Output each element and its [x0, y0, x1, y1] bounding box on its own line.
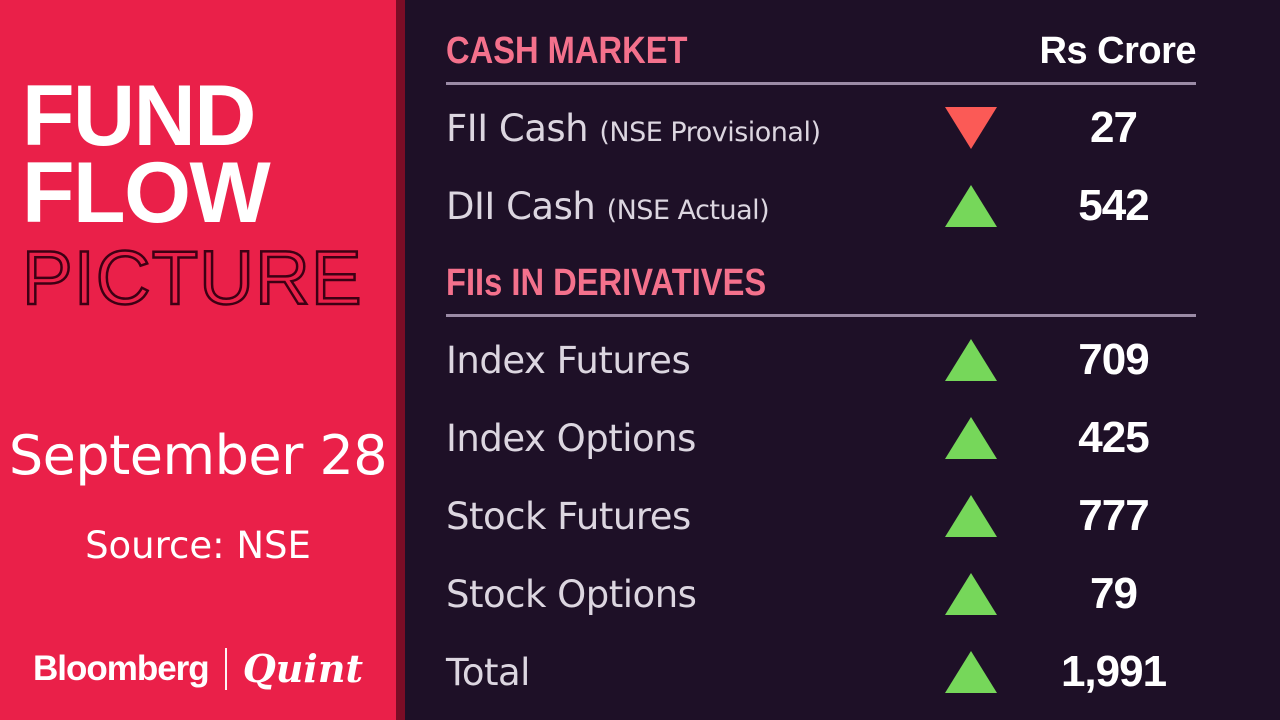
row-value: 542 [1031, 181, 1196, 231]
section-cash-market: CASH MARKET Rs Crore FII Cash (NSE Provi… [446, 30, 1196, 245]
row-label: DII Cash (NSE Actual) [446, 185, 911, 228]
infographic-canvas: FUND FLOW PICTURE September 28 Source: N… [0, 0, 1280, 720]
row-label: Index Futures [446, 339, 911, 382]
row-label-main: Index Futures [446, 339, 690, 382]
triangle-down-icon [945, 107, 997, 149]
row-label-main: Index Options [446, 417, 696, 460]
row-value: 425 [1031, 413, 1196, 463]
row-label-qualifier: (NSE Actual) [607, 195, 770, 226]
direction-marker [911, 651, 1031, 693]
logo-divider [225, 648, 227, 690]
publisher-logo: Bloomberg Quint [0, 646, 396, 691]
direction-marker [911, 107, 1031, 149]
table-row: Index Options 425 [446, 399, 1196, 477]
row-label: Total [446, 651, 911, 694]
direction-marker [911, 339, 1031, 381]
triangle-up-icon [945, 573, 997, 615]
row-label-main: Stock Futures [446, 495, 691, 538]
row-label-main: DII Cash [446, 185, 595, 228]
table-row: Stock Futures 777 [446, 477, 1196, 555]
section-title: FIIs IN DERIVATIVES [446, 262, 766, 305]
row-label-main: Stock Options [446, 573, 696, 616]
triangle-up-icon [945, 417, 997, 459]
row-value: 709 [1031, 335, 1196, 385]
data-panel: CASH MARKET Rs Crore FII Cash (NSE Provi… [405, 0, 1280, 720]
row-value: 79 [1031, 569, 1196, 619]
triangle-up-icon [945, 185, 997, 227]
section-rows: FII Cash (NSE Provisional) 27 DII Cash (… [446, 89, 1196, 245]
direction-marker [911, 495, 1031, 537]
logo-quint-wordmark: Quint [243, 646, 363, 691]
panel-edge-accent [396, 0, 405, 720]
triangle-up-icon [945, 339, 997, 381]
row-label: FII Cash (NSE Provisional) [446, 107, 911, 150]
brand-lockup: FUND FLOW PICTURE [22, 78, 382, 319]
row-value: 27 [1031, 103, 1196, 153]
table-row: DII Cash (NSE Actual) 542 [446, 167, 1196, 245]
brand-title-line-1: FUND [22, 78, 382, 155]
section-rule [446, 82, 1196, 85]
row-label-qualifier: (NSE Provisional) [599, 117, 820, 148]
row-label: Stock Futures [446, 495, 911, 538]
logo-bloomberg-wordmark: Bloomberg [33, 649, 209, 689]
section-fiis-in-derivatives: FIIs IN DERIVATIVES Index Futures 709 I [446, 262, 1196, 711]
brand-panel: FUND FLOW PICTURE September 28 Source: N… [0, 0, 396, 720]
section-rule [446, 314, 1196, 317]
section-header: CASH MARKET Rs Crore [446, 30, 1196, 82]
row-label: Index Options [446, 417, 911, 460]
source-label: Source: NSE [0, 524, 396, 567]
date-label: September 28 [0, 424, 396, 487]
section-header: FIIs IN DERIVATIVES [446, 262, 1196, 314]
row-value: 777 [1031, 491, 1196, 541]
table-row-total: Total 1,991 [446, 633, 1196, 711]
direction-marker [911, 185, 1031, 227]
section-title: CASH MARKET [446, 30, 687, 73]
section-unit-label: Rs Crore [1040, 30, 1197, 73]
table-row: Index Futures 709 [446, 321, 1196, 399]
row-label-main: Total [446, 651, 530, 694]
brand-title-line-2: FLOW [22, 155, 382, 232]
triangle-up-icon [945, 651, 997, 693]
direction-marker [911, 417, 1031, 459]
triangle-up-icon [945, 495, 997, 537]
brand-title-line-3: PICTURE [22, 233, 382, 319]
row-value: 1,991 [1031, 647, 1196, 697]
table-row: Stock Options 79 [446, 555, 1196, 633]
row-label-main: FII Cash [446, 107, 588, 150]
direction-marker [911, 573, 1031, 615]
table-row: FII Cash (NSE Provisional) 27 [446, 89, 1196, 167]
section-rows: Index Futures 709 Index Options 425 [446, 321, 1196, 711]
row-label: Stock Options [446, 573, 911, 616]
